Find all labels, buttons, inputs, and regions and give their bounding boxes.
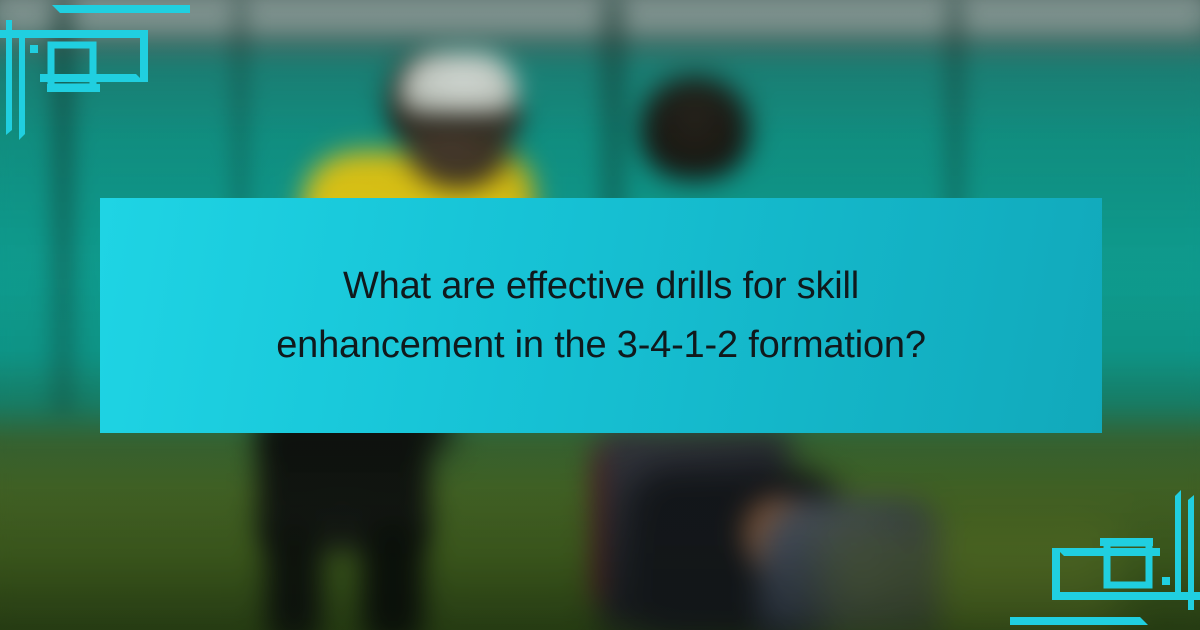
corner-ornament-top-left (0, 0, 190, 150)
corner-ornament-bottom-right (1010, 480, 1200, 630)
share-card: What are effective drills for skill enha… (0, 0, 1200, 630)
question-banner: What are effective drills for skill enha… (100, 198, 1102, 433)
question-text: What are effective drills for skill enha… (251, 257, 951, 375)
